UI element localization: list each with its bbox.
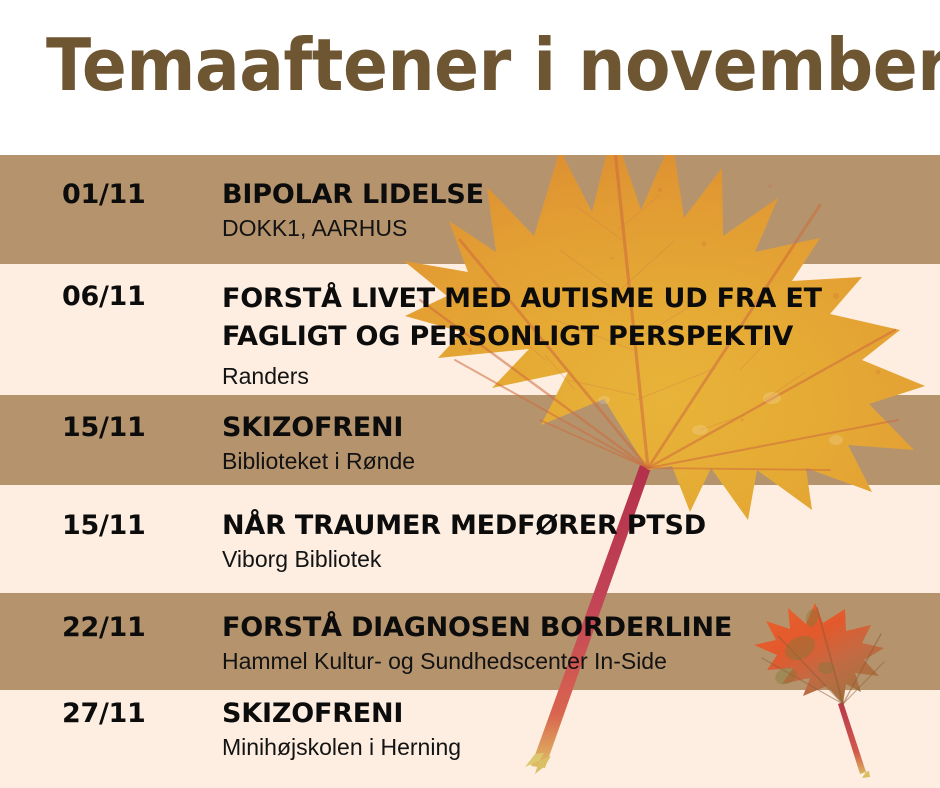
- event-date: 06/11: [62, 280, 146, 313]
- event-date: 27/11: [62, 697, 146, 730]
- event-body: SKIZOFRENI Minihøjskolen i Herning: [222, 697, 922, 762]
- event-date: 01/11: [62, 178, 146, 211]
- event-body: FORSTÅ LIVET MED AUTISME UD FRA ET FAGLI…: [222, 280, 922, 391]
- event-title: BIPOLAR LIDELSE: [222, 178, 922, 211]
- event-venue: Randers: [222, 361, 922, 391]
- event-venue: Hammel Kultur- og Sundhedscenter In-Side: [222, 646, 922, 676]
- november-theme-evenings-poster: Temaaftener i november 01/11 BIPOLAR LID…: [0, 0, 940, 788]
- event-title: SKIZOFRENI: [222, 411, 922, 444]
- event-date: 15/11: [62, 509, 146, 542]
- event-venue: Biblioteket i Rønde: [222, 446, 922, 476]
- event-date: 22/11: [62, 611, 146, 644]
- event-venue: Viborg Bibliotek: [222, 544, 922, 574]
- event-title: SKIZOFRENI: [222, 697, 922, 730]
- event-venue: Minihøjskolen i Herning: [222, 732, 922, 762]
- event-body: NÅR TRAUMER MEDFØRER PTSD Viborg Bibliot…: [222, 509, 922, 574]
- event-body: FORSTÅ DIAGNOSEN BORDERLINE Hammel Kultu…: [222, 611, 922, 676]
- event-venue: DOKK1, AARHUS: [222, 213, 922, 243]
- event-date: 15/11: [62, 411, 146, 444]
- page-title: Temaaftener i november: [46, 23, 940, 107]
- event-body: BIPOLAR LIDELSE DOKK1, AARHUS: [222, 178, 922, 243]
- event-title: FORSTÅ LIVET MED AUTISME UD FRA ET FAGLI…: [222, 280, 822, 356]
- event-title: FORSTÅ DIAGNOSEN BORDERLINE: [222, 611, 922, 644]
- title-area: Temaaftener i november: [0, 0, 940, 155]
- event-body: SKIZOFRENI Biblioteket i Rønde: [222, 411, 922, 476]
- event-title: NÅR TRAUMER MEDFØRER PTSD: [222, 509, 922, 542]
